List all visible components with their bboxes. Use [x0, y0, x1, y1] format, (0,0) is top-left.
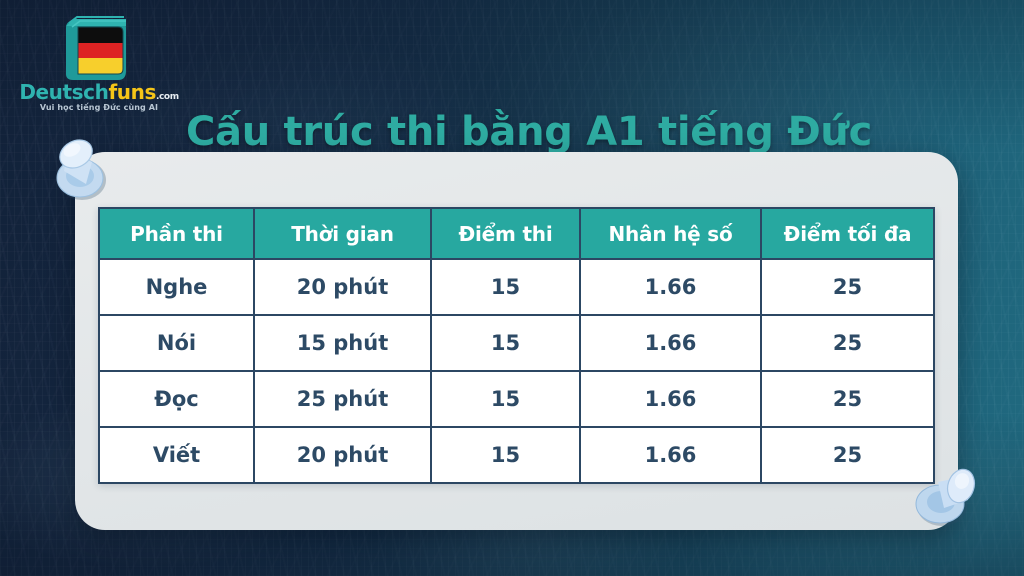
brand-name-part2: funs: [108, 80, 155, 104]
infographic-canvas: Deutschfuns.com Vui học tiếng Đức cùng A…: [0, 0, 1024, 576]
cell-diem-toi-da: 25: [761, 371, 934, 427]
cell-phan-thi: Đọc: [99, 371, 254, 427]
brand-logo[interactable]: Deutschfuns.com Vui học tiếng Đức cùng A…: [14, 14, 184, 114]
column-header-nhan-he-so: Nhân hệ số: [580, 208, 761, 259]
cell-phan-thi: Nói: [99, 315, 254, 371]
pushpin-icon-bottom-right: [908, 458, 984, 534]
table-row: Nghe 20 phút 15 1.66 25: [99, 259, 934, 315]
cell-nhan-he-so: 1.66: [580, 259, 761, 315]
cell-nhan-he-so: 1.66: [580, 315, 761, 371]
cell-diem-thi: 15: [431, 371, 580, 427]
cell-nhan-he-so: 1.66: [580, 371, 761, 427]
cell-diem-thi: 15: [431, 315, 580, 371]
cell-thoi-gian: 25 phút: [254, 371, 431, 427]
cell-diem-toi-da: 25: [761, 315, 934, 371]
cell-thoi-gian: 15 phút: [254, 315, 431, 371]
table-row: Đọc 25 phút 15 1.66 25: [99, 371, 934, 427]
cell-diem-toi-da: 25: [761, 259, 934, 315]
brand-tagline: Vui học tiếng Đức cùng AI: [14, 103, 184, 112]
brand-name-part1: Deutsch: [19, 80, 108, 104]
cell-diem-thi: 15: [431, 427, 580, 483]
table-header-row: Phần thi Thời gian Điểm thi Nhân hệ số Đ…: [99, 208, 934, 259]
column-header-diem-thi: Điểm thi: [431, 208, 580, 259]
brand-name-suffix: .com: [156, 92, 179, 102]
column-header-phan-thi: Phần thi: [99, 208, 254, 259]
cell-phan-thi: Viết: [99, 427, 254, 483]
page-title: Cấu trúc thi bằng A1 tiếng Đức: [186, 111, 886, 153]
column-header-diem-toi-da: Điểm tối đa: [761, 208, 934, 259]
table-row: Nói 15 phút 15 1.66 25: [99, 315, 934, 371]
cell-thoi-gian: 20 phút: [254, 259, 431, 315]
column-header-thoi-gian: Thời gian: [254, 208, 431, 259]
cell-diem-thi: 15: [431, 259, 580, 315]
cell-phan-thi: Nghe: [99, 259, 254, 315]
german-flag-book-icon: [60, 16, 134, 82]
cell-nhan-he-so: 1.66: [580, 427, 761, 483]
table-row: Viết 20 phút 15 1.66 25: [99, 427, 934, 483]
pushpin-icon-top-left: [42, 134, 118, 210]
exam-structure-table-container: Phần thi Thời gian Điểm thi Nhân hệ số Đ…: [98, 207, 933, 484]
exam-structure-table: Phần thi Thời gian Điểm thi Nhân hệ số Đ…: [98, 207, 935, 484]
cell-thoi-gian: 20 phút: [254, 427, 431, 483]
brand-wordmark: Deutschfuns.com: [14, 82, 184, 102]
